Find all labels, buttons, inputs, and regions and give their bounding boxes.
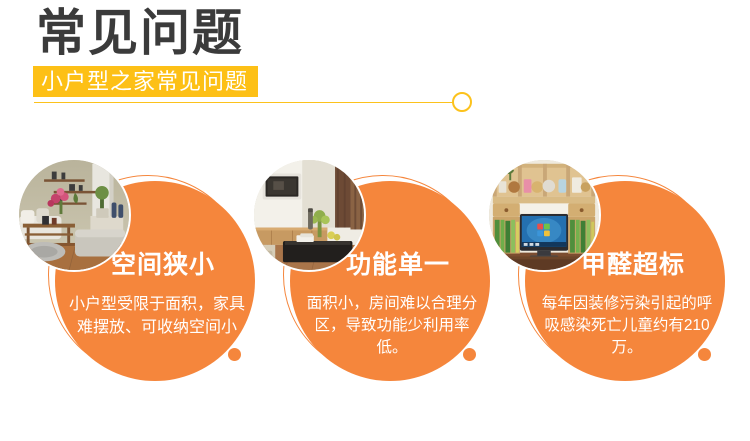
card-photo — [17, 158, 131, 272]
card-body-text: 面积小，房间难以合理分区，导致功能少利用率低。 — [300, 293, 484, 359]
tv-living-room-photo-icon — [254, 160, 364, 270]
ring-dot-icon — [228, 348, 241, 361]
feature-card[interactable]: 甲醛超标 每年因装修污染引起的呼吸感染死亡儿童约有210万。 — [510, 163, 725, 393]
card-body-text: 小户型受限于面积，家具难摆放、可收纳空间小 — [65, 293, 249, 339]
desk-computer-photo-icon — [489, 160, 599, 270]
poster-canvas: 常见问题 小户型之家常见问题 空间狭小 小户型受限于面积，家具难摆放、可收纳空间… — [0, 0, 750, 441]
feature-card[interactable]: 空间狭小 小户型受限于面积，家具难摆放、可收纳空间小 — [40, 163, 255, 393]
card-body-text: 每年因装修污染引起的呼吸感染死亡儿童约有210万。 — [535, 293, 719, 359]
feature-card-list: 空间狭小 小户型受限于面积，家具难摆放、可收纳空间小 — [0, 0, 750, 441]
card-photo — [252, 158, 366, 272]
feature-card[interactable]: 功能单一 面积小，房间难以合理分区，导致功能少利用率低。 — [275, 163, 490, 393]
card-photo — [487, 158, 601, 272]
living-room-photo-icon — [19, 160, 129, 270]
